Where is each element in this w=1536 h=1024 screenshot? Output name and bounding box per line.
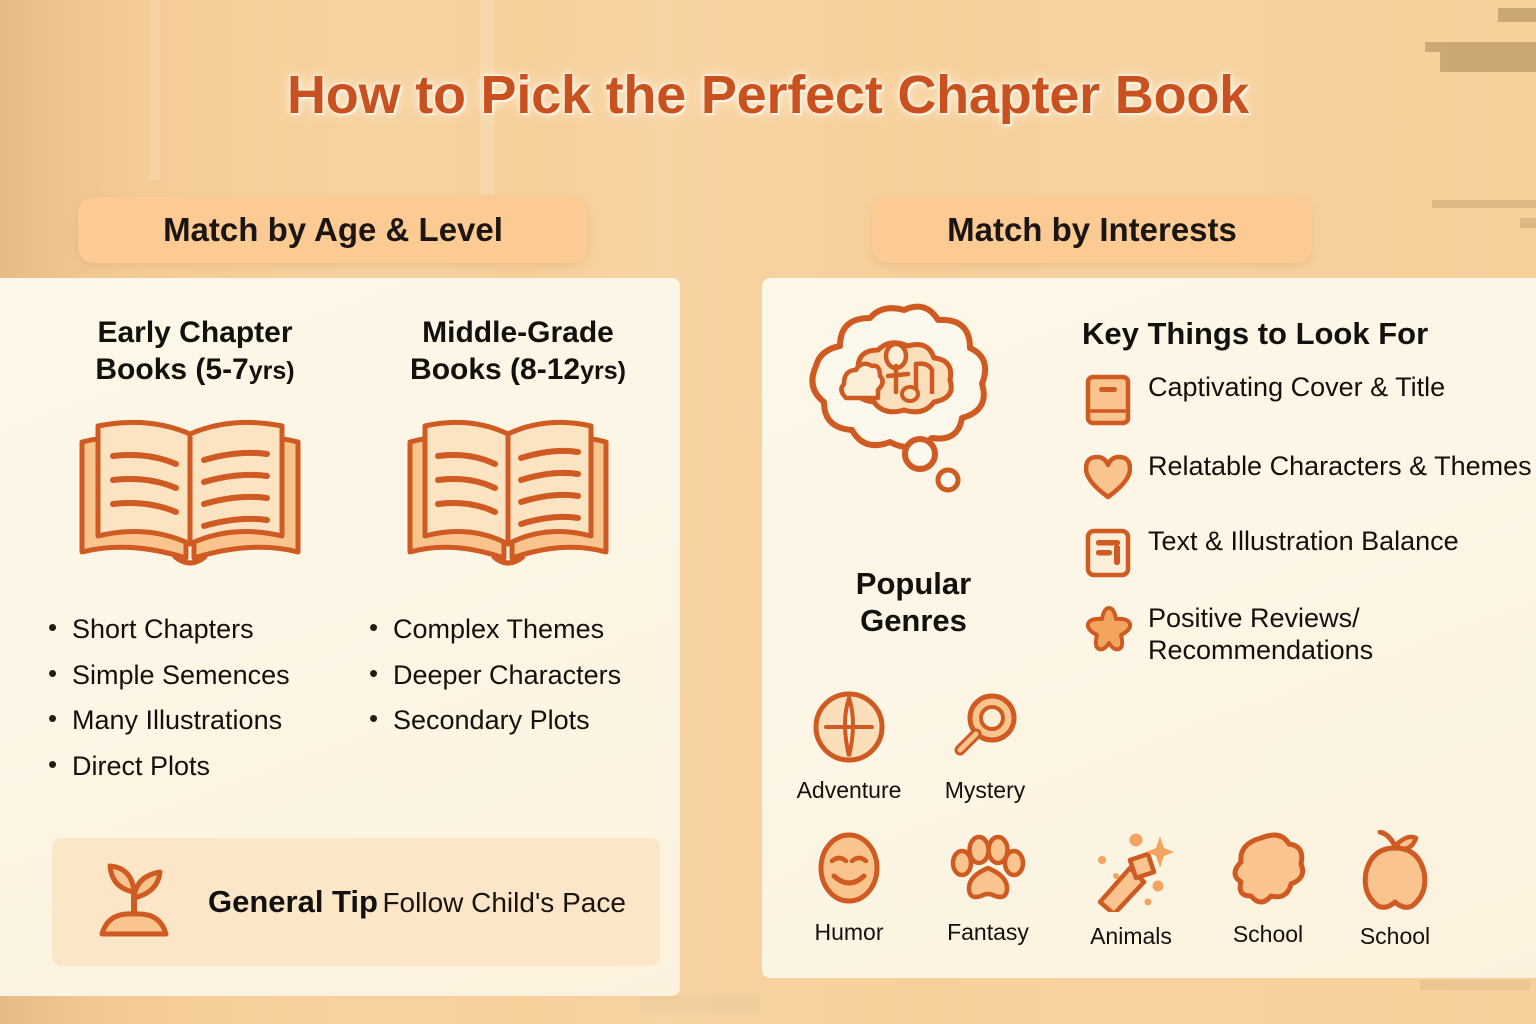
- magic-wand-icon: [1088, 830, 1174, 912]
- list-item: Deeper Characters: [365, 661, 621, 691]
- key-things-heading: Key Things to Look For: [1082, 316, 1428, 352]
- book-cover-icon: [1084, 372, 1140, 431]
- early-chapter-heading-line2: Books (5-7: [95, 353, 248, 386]
- list-item: Captivating Cover & Title: [1084, 372, 1536, 431]
- list-item: Many Illustrations: [44, 706, 290, 736]
- middle-grade-heading-unit: yrs): [580, 357, 626, 385]
- genre-humor[interactable]: Humor: [789, 830, 909, 946]
- popular-genres-line2: Genres: [806, 602, 1021, 639]
- general-tip-subtitle: Follow Child's Pace: [382, 887, 625, 918]
- genre-label: Humor: [789, 919, 909, 946]
- open-book-icon: [398, 412, 618, 587]
- list-item-label: Positive Reviews/ Recommendations: [1140, 603, 1536, 667]
- genre-label: Animals: [1071, 923, 1191, 950]
- list-item: Short Chapters: [44, 615, 290, 645]
- genre-label: School: [1208, 921, 1328, 948]
- list-item: Direct Plots: [44, 752, 290, 782]
- list-item: Secondary Plots: [365, 706, 621, 736]
- genre-fantasy[interactable]: Fantasy: [928, 830, 1048, 946]
- list-item: Text & Illustration Balance: [1084, 526, 1536, 583]
- list-item-label: Relatable Characters & Themes: [1140, 451, 1532, 483]
- middle-grade-heading-line1: Middle-Grade: [368, 315, 668, 352]
- list-item: Positive Reviews/ Recommendations: [1084, 603, 1536, 667]
- middle-grade-heading-line2: Books (8-12: [410, 353, 580, 386]
- section-header-age-level: Match by Age & Level: [78, 197, 588, 263]
- middle-grade-heading: Middle-Grade Books (8-12yrs): [368, 315, 668, 388]
- list-item: Relatable Characters & Themes: [1084, 451, 1536, 506]
- background-streak: [1432, 200, 1536, 208]
- apple-icon: [1356, 830, 1434, 912]
- thought-bubble-icon: [786, 300, 1002, 505]
- genre-adventure[interactable]: Adventure: [789, 688, 909, 804]
- genre-school-apple[interactable]: School: [1335, 830, 1455, 950]
- heart-icon: [1084, 451, 1140, 506]
- general-tip-title: General Tip: [208, 884, 378, 919]
- genre-label: School: [1335, 923, 1455, 950]
- early-chapter-heading-unit: yrs): [249, 357, 295, 385]
- section-header-interests: Match by Interests: [872, 197, 1312, 263]
- early-chapter-bullets: Short Chapters Simple Semences Many Illu…: [44, 615, 290, 798]
- list-item: Simple Semences: [44, 661, 290, 691]
- popular-genres-heading: Popular Genres: [806, 565, 1021, 639]
- key-things-list: Captivating Cover & Title Relatable Char…: [1084, 372, 1536, 687]
- genre-school-tree[interactable]: School: [1208, 830, 1328, 948]
- background-streak: [1498, 8, 1536, 22]
- compass-icon: [810, 688, 888, 766]
- genre-label: Fantasy: [928, 919, 1048, 946]
- list-item-label: Text & Illustration Balance: [1140, 526, 1459, 558]
- sprout-icon: [94, 858, 178, 947]
- general-tip-text: General Tip Follow Child's Pace: [208, 885, 626, 919]
- genre-animals[interactable]: Animals: [1071, 830, 1191, 950]
- text-page-icon: [1084, 526, 1140, 583]
- genre-mystery[interactable]: Mystery: [925, 688, 1045, 804]
- tree-icon: [1227, 830, 1309, 910]
- background-streak: [640, 995, 760, 1013]
- popular-genres-line1: Popular: [806, 565, 1021, 602]
- middle-grade-bullets: Complex Themes Deeper Characters Seconda…: [365, 615, 621, 752]
- general-tip-box: General Tip Follow Child's Pace: [52, 838, 660, 966]
- early-chapter-heading-line1: Early Chapter: [50, 315, 340, 352]
- smiley-face-icon: [810, 830, 888, 908]
- genre-label: Adventure: [789, 777, 909, 804]
- list-item: Complex Themes: [365, 615, 621, 645]
- open-book-icon: [68, 412, 312, 587]
- background-streak: [1425, 42, 1536, 52]
- background-streak: [1420, 980, 1530, 990]
- list-item-label: Captivating Cover & Title: [1140, 372, 1445, 404]
- magnifying-glass-icon: [946, 688, 1024, 766]
- genre-label: Mystery: [925, 777, 1045, 804]
- background-streak: [1520, 218, 1536, 228]
- paw-print-icon: [949, 830, 1027, 908]
- star-icon: [1084, 603, 1140, 658]
- early-chapter-heading: Early Chapter Books (5-7yrs): [50, 315, 340, 388]
- page-title: How to Pick the Perfect Chapter Book: [0, 64, 1536, 126]
